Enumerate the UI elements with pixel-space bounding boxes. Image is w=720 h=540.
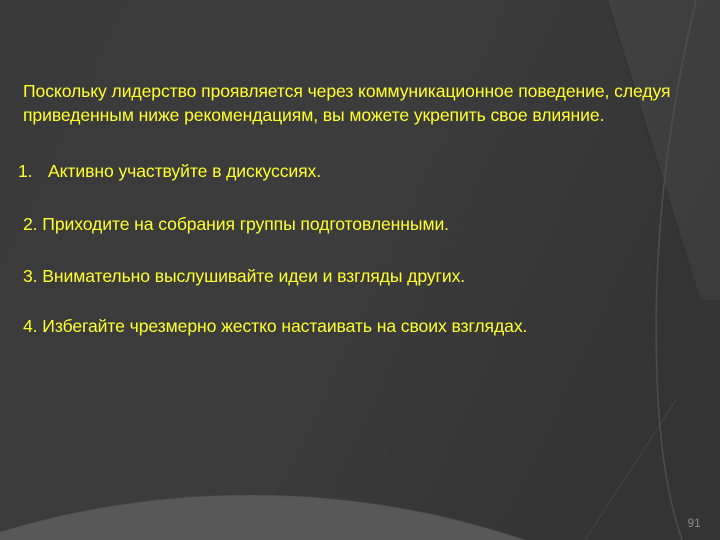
slide-body-placeholder: Поскольку лидерство проявляется через ко…: [23, 80, 695, 338]
list-item-text: Избегайте чрезмерно жестко настаивать на…: [42, 316, 527, 336]
list-item-text: Внимательно выслушивайте идеи и взгляды …: [42, 266, 465, 286]
spacer: [23, 184, 695, 213]
slide-number: 91: [688, 517, 701, 531]
list-item: 1.Активно участвуйте в дискуссиях.: [18, 160, 695, 184]
spacer: [23, 289, 695, 315]
list-item-marker: 3.: [23, 265, 42, 289]
list-item: 2.Приходите на собрания группы подготовл…: [23, 213, 695, 237]
recommendations-list: 1.Активно участвуйте в дискуссиях. 2.При…: [23, 160, 695, 338]
list-item-marker: 2.: [23, 213, 42, 237]
list-item: 3.Внимательно выслушивайте идеи и взгляд…: [23, 265, 695, 289]
spacer: [23, 127, 695, 160]
intro-paragraph: Поскольку лидерство проявляется через ко…: [23, 80, 698, 127]
spacer: [23, 236, 695, 265]
presentation-slide: Поскольку лидерство проявляется через ко…: [0, 0, 720, 540]
list-item: 4.Избегайте чрезмерно жестко настаивать …: [23, 315, 695, 339]
list-item-text: Приходите на собрания группы подготовлен…: [42, 214, 449, 234]
slide-content: Поскольку лидерство проявляется через ко…: [0, 0, 720, 540]
list-item-text: Активно участвуйте в дискуссиях.: [48, 161, 321, 181]
list-item-marker: 1.: [18, 160, 48, 184]
list-item-marker: 4.: [23, 315, 42, 339]
